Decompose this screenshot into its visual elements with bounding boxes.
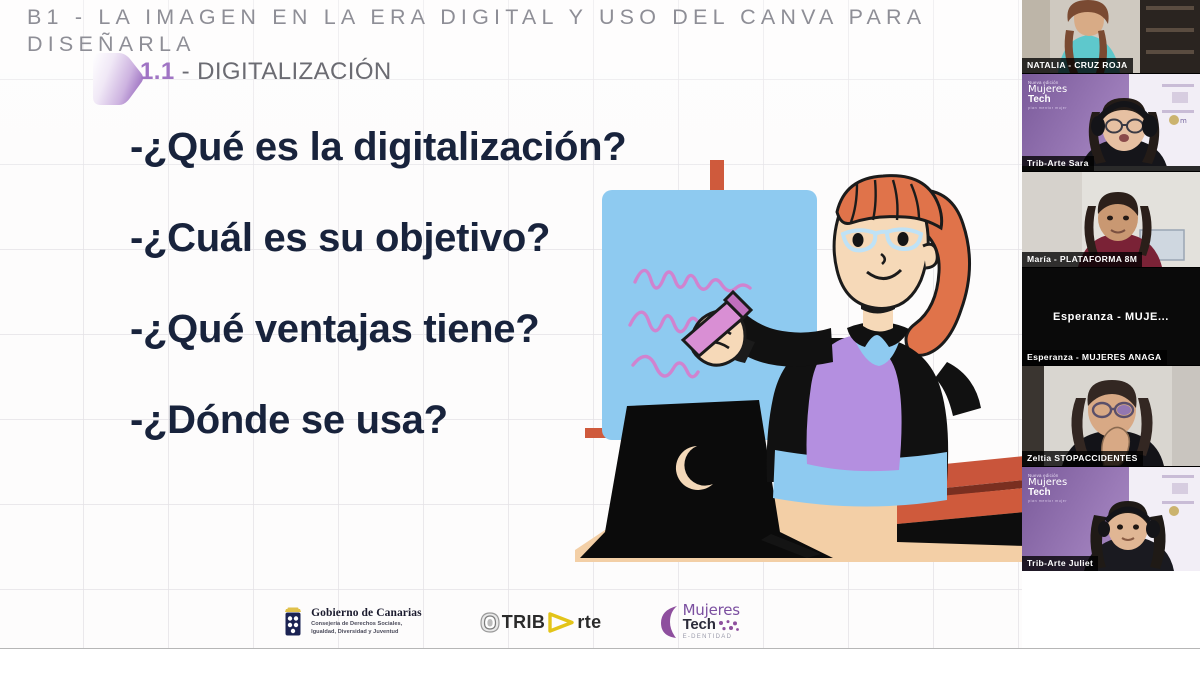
video-tile-sara[interactable]: m: [1022, 74, 1200, 171]
bottom-white-strip: [0, 649, 1200, 675]
canarias-shield-icon: [282, 607, 304, 637]
participant-name: María - PLATAFORMA 8M: [1022, 252, 1142, 267]
participant-name: NATALIA - CRUZ ROJA: [1022, 58, 1133, 73]
logo-mujeres-tech: Mujeres Tech: [660, 603, 740, 640]
triangle-a-icon: [548, 612, 574, 633]
logo-tribarte: TRIB rte: [480, 612, 602, 633]
video-tile-esperanza[interactable]: Esperanza - MUJE... Esperanza - MUJERES …: [1022, 268, 1200, 365]
logo-gobierno-de-canarias: Gobierno de Canarias Consejería de Derec…: [282, 607, 422, 637]
section-name: - DIGITALIZACIÓN: [182, 58, 392, 85]
video-tile-natalia[interactable]: NATALIA - CRUZ ROJA: [1022, 0, 1200, 73]
participant-name: Zeltia STOPACCIDENTES: [1022, 451, 1143, 466]
presentation-slide: B1 - LA IMAGEN EN LA ERA DIGITAL Y USO D…: [0, 0, 1022, 648]
slide-title: B1 - LA IMAGEN EN LA ERA DIGITAL Y USO D…: [27, 4, 997, 58]
slide-section-heading: 1.1 - DIGITALIZACIÓN: [140, 58, 392, 86]
section-number: 1.1: [140, 58, 175, 85]
gobierno-subtitle: Consejería de Derechos Sociales, Igualda…: [311, 621, 422, 636]
screenshare-logo: Nueva edición Mujeres Tech plan mentor m…: [1028, 80, 1086, 110]
gobierno-title: Gobierno de Canarias: [311, 608, 422, 620]
crescent-moon-icon: [660, 605, 680, 639]
participant-name: Esperanza - MUJERES ANAGA: [1022, 350, 1167, 365]
footer-logo-bar: Gobierno de Canarias Consejería de Derec…: [0, 596, 1022, 648]
participant-name: Trib-Arte Sara: [1022, 156, 1094, 171]
chevron-accent-icon: [89, 49, 147, 109]
illustration-woman-at-whiteboard: [575, 150, 1022, 590]
shell-icon: [480, 612, 500, 633]
participant-name: Trib-Arte Juliet: [1022, 556, 1098, 571]
video-tile-maria[interactable]: María - PLATAFORMA 8M: [1022, 172, 1200, 267]
edentidad-text: E-DENTIDAD: [683, 635, 740, 641]
tribarte-text-rte: rte: [577, 612, 601, 633]
video-tile-juliet[interactable]: Nueva edición Mujeres Tech plan mentor m…: [1022, 467, 1200, 571]
tribarte-text-trib: TRIB: [502, 612, 546, 633]
video-tile-zeltia[interactable]: Zeltia STOPACCIDENTES: [1022, 366, 1200, 466]
screenshare-logo: Nueva edición Mujeres Tech plan mentor m…: [1028, 473, 1086, 503]
participant-placeholder-label: Esperanza - MUJE...: [1022, 311, 1200, 323]
tech-text: Tech: [683, 618, 716, 633]
video-participant-panel[interactable]: NATALIA - CRUZ ROJA m: [1022, 0, 1200, 568]
network-dots-icon: [718, 620, 740, 633]
svg-text:m: m: [1180, 117, 1187, 125]
screen-root: B1 - LA IMAGEN EN LA ERA DIGITAL Y USO D…: [0, 0, 1200, 675]
